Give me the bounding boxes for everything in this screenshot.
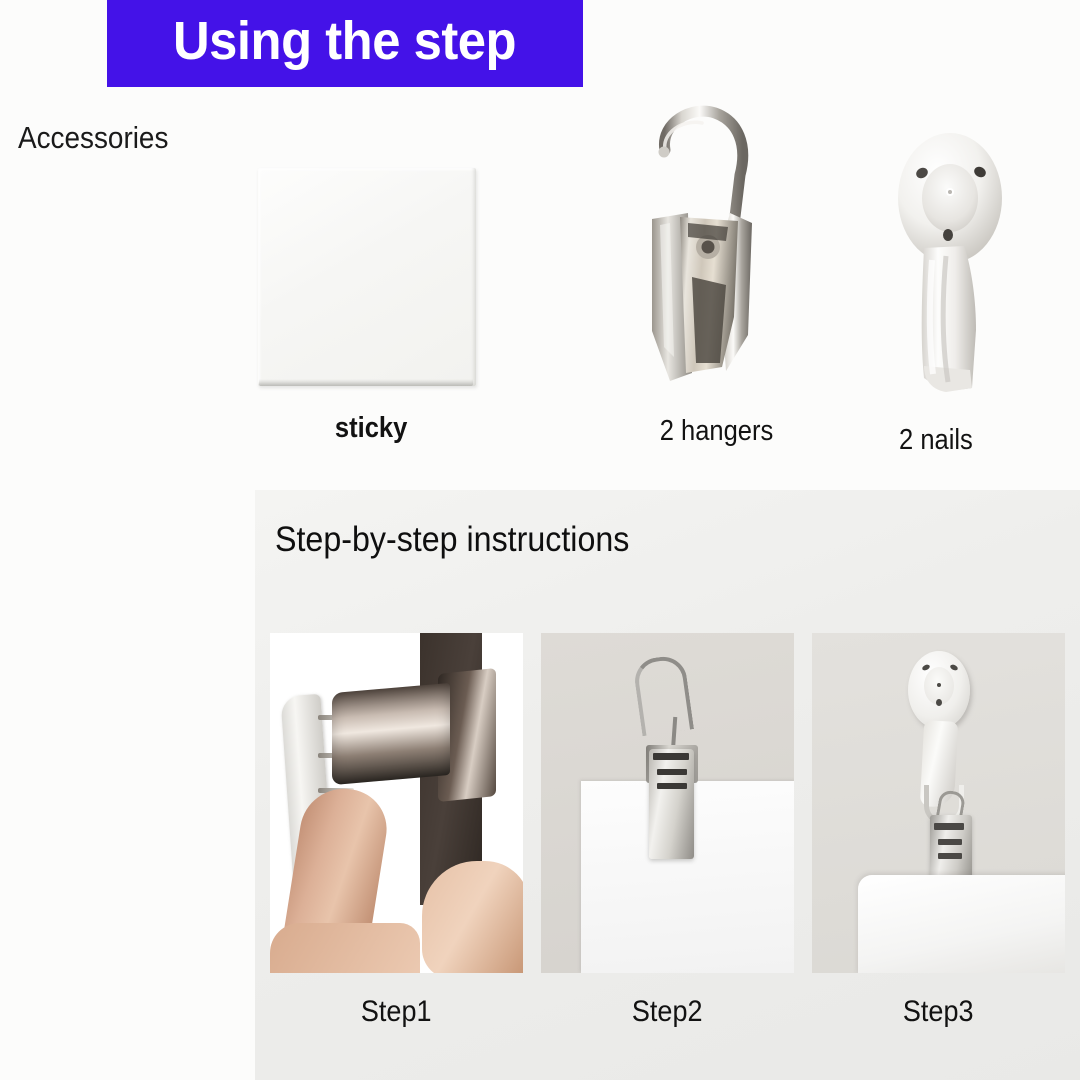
adhesive-pad-icon [258, 168, 476, 386]
clip-gripping-white-sheet-photo [541, 633, 794, 973]
steps-row: Step1 Step2 [270, 633, 1065, 1063]
title-banner: Using the step [107, 0, 583, 87]
hammering-nail-into-wall-hook-photo [270, 633, 523, 973]
clip-slot [934, 823, 964, 830]
wall-hook-nail-icon [880, 130, 1030, 395]
step-caption-3: Step3 [903, 995, 974, 1029]
clip-slot [938, 839, 962, 845]
hammer-head [332, 683, 450, 785]
clip-slot [657, 783, 687, 789]
page-title: Using the step [173, 14, 516, 74]
thumb [422, 861, 523, 973]
clip-slot [657, 769, 687, 775]
instructions-heading: Step-by-step instructions [275, 520, 629, 560]
accessory-caption-hangers: 2 hangers [660, 415, 774, 448]
instructions-panel: Step-by-step instructions Step1 [255, 490, 1080, 1080]
clip-hook [632, 654, 694, 736]
step-caption-2: Step2 [632, 995, 703, 1029]
clip-slot [653, 753, 689, 760]
step-caption-1: Step1 [361, 995, 432, 1029]
plate-center-dot [937, 683, 941, 687]
palm [270, 923, 420, 973]
product-instruction-infographic: Using the step Accessories sticky [0, 0, 1080, 1080]
hanging-fabric [858, 875, 1065, 973]
step-item: Step3 [812, 633, 1065, 1063]
clip-slot [938, 853, 962, 859]
step-item: Step1 [270, 633, 523, 1063]
accessory-caption-nails: 2 nails [899, 424, 973, 457]
hanger-clip-icon [630, 95, 810, 395]
accessory-caption-sticky: sticky [335, 412, 407, 445]
clip-body [649, 749, 694, 859]
accessories-heading: Accessories [18, 120, 168, 156]
clip-hanging-on-wall-hook-photo [812, 633, 1065, 973]
nail-hole [936, 699, 942, 706]
step-item: Step2 [541, 633, 794, 1063]
